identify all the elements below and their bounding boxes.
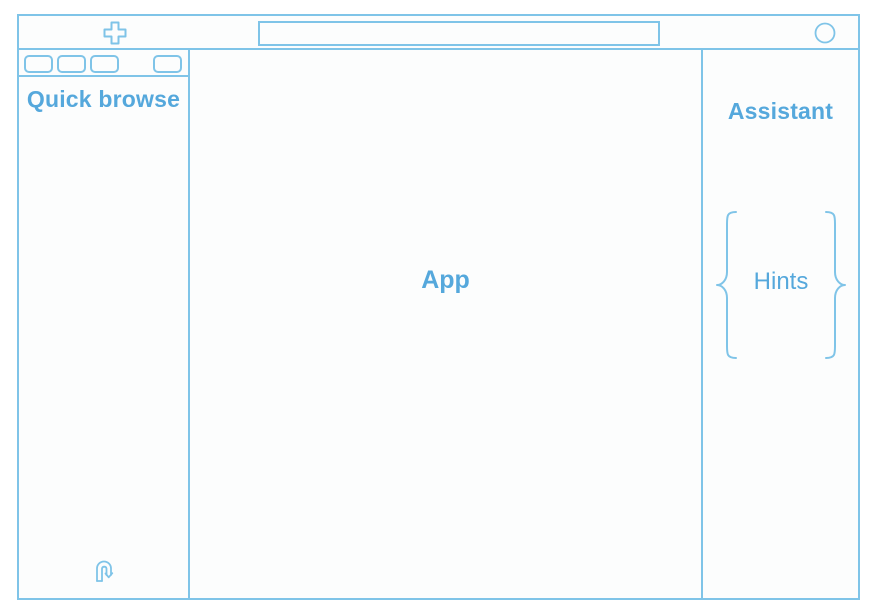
sidebar-title: Quick browse bbox=[19, 84, 188, 114]
brace-right-icon bbox=[822, 210, 848, 360]
sidebar-tab-2[interactable] bbox=[57, 55, 86, 73]
sidebar-footer bbox=[19, 552, 188, 592]
sidebar-tab-bar bbox=[19, 50, 188, 77]
body-region: Quick browse App bbox=[19, 50, 858, 598]
u-turn-arrow-icon[interactable] bbox=[91, 556, 121, 586]
wireframe-canvas: Quick browse App bbox=[0, 0, 879, 616]
top-bar bbox=[19, 16, 858, 50]
sidebar-tab-3[interactable] bbox=[90, 55, 119, 73]
search-input[interactable] bbox=[258, 21, 660, 46]
app-label: App bbox=[190, 266, 701, 295]
plus-icon[interactable] bbox=[102, 20, 128, 46]
assistant-title: Assistant bbox=[703, 98, 858, 125]
app-window-frame: Quick browse App bbox=[17, 14, 860, 600]
sidebar-quick-browse: Quick browse bbox=[19, 50, 190, 598]
assistant-panel: Assistant Hints bbox=[703, 50, 858, 598]
sidebar-tab-1[interactable] bbox=[24, 55, 53, 73]
app-content-panel[interactable]: App bbox=[190, 50, 703, 598]
circle-avatar-icon[interactable] bbox=[814, 22, 836, 44]
sidebar-tab-4[interactable] bbox=[153, 55, 182, 73]
hints-block: Hints bbox=[706, 210, 856, 360]
